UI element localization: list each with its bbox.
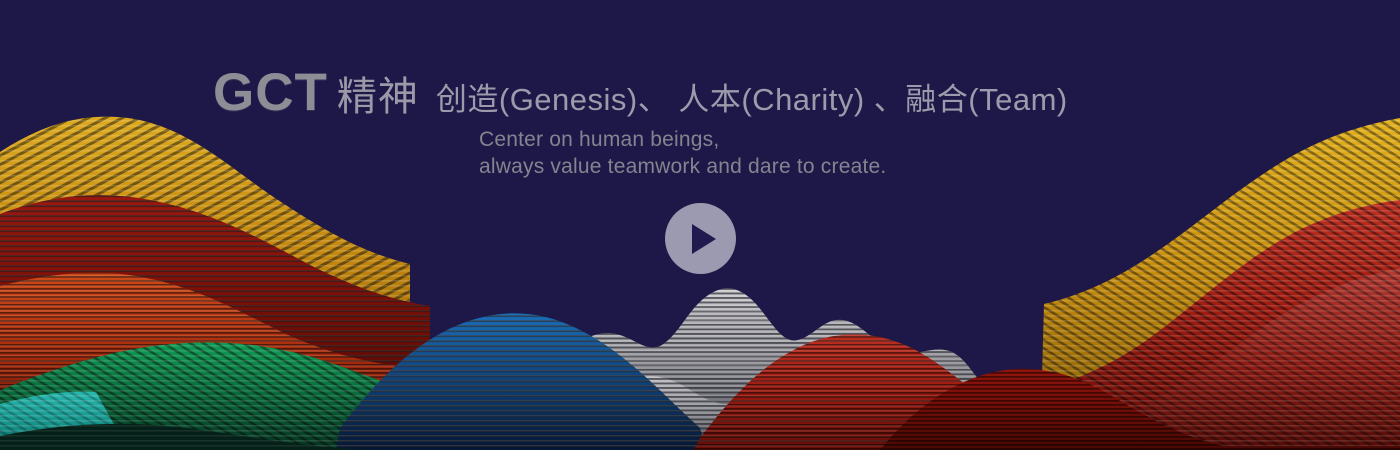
hero-banner: GCT 精神 创造(Genesis)、 人本(Charity) 、融合(Team…: [0, 0, 1400, 450]
play-triangle-icon: [692, 224, 716, 254]
play-video-button[interactable]: [665, 203, 736, 274]
